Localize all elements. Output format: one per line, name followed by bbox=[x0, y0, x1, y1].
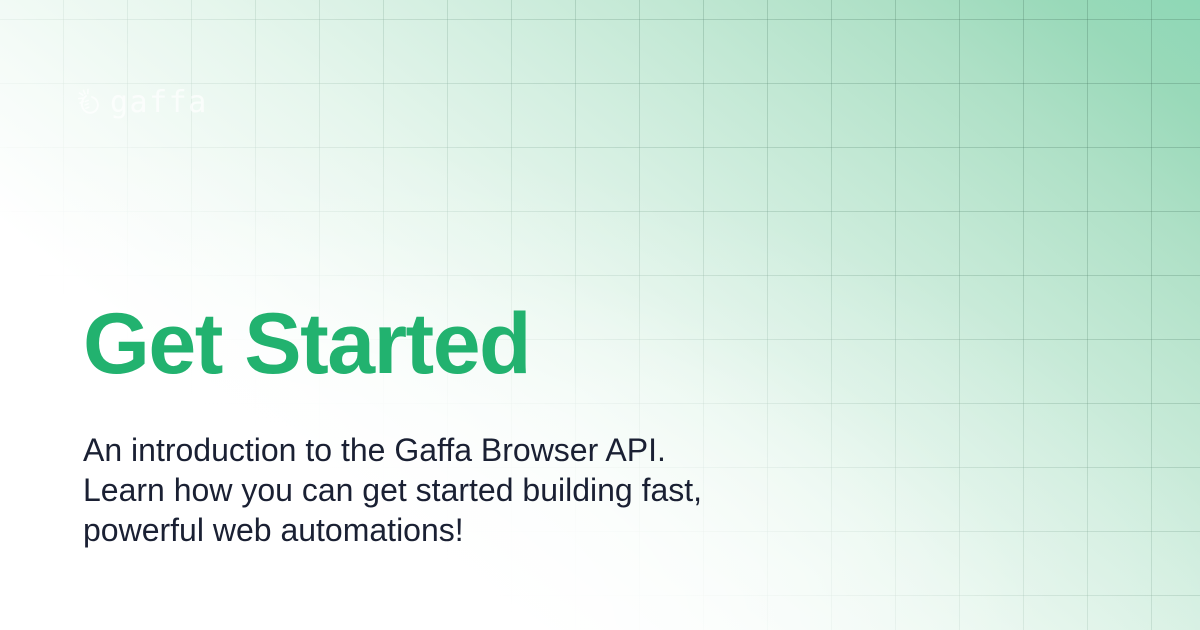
og-card: gaffa Get Started An introduction to the… bbox=[0, 0, 1200, 630]
gaffa-spark-bulb-icon bbox=[78, 88, 104, 118]
subtitle-line-3: powerful web automations! bbox=[83, 510, 903, 550]
brand-icon-wrap bbox=[78, 88, 104, 118]
brand-lockup: gaffa bbox=[78, 88, 208, 118]
subtitle-line-1: An introduction to the Gaffa Browser API… bbox=[83, 430, 903, 470]
page-subtitle: An introduction to the Gaffa Browser API… bbox=[83, 430, 903, 550]
subtitle-line-2: Learn how you can get started building f… bbox=[83, 470, 903, 510]
brand-wordmark: gaffa bbox=[110, 88, 208, 118]
page-title: Get Started bbox=[83, 296, 530, 392]
